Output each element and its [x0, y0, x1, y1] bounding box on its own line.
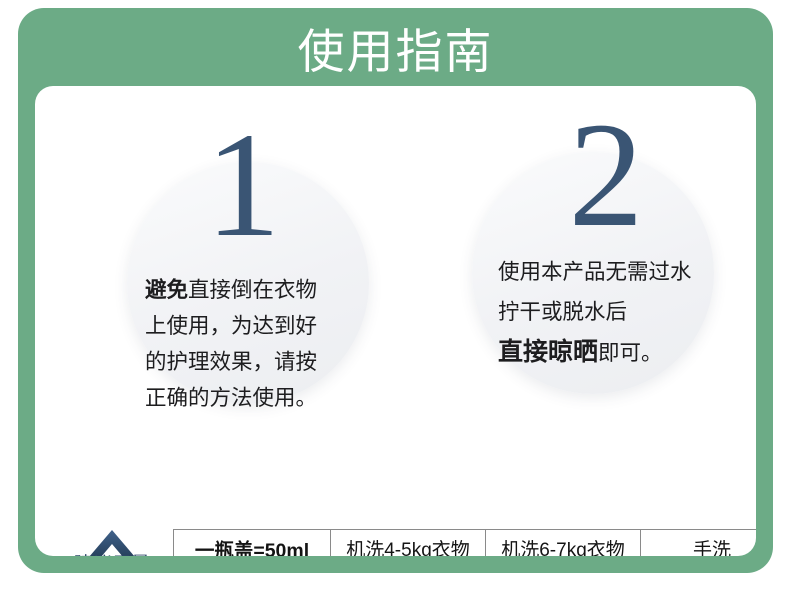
step-1-number: 1: [121, 110, 363, 260]
step-1-line-1: 避免直接倒在衣物: [145, 272, 317, 308]
step-2: 2 使用本产品无需过水 拧干或脱水后 直接晾晒即可。: [472, 152, 714, 394]
dosage-badge-label: 建议用量: [53, 553, 171, 556]
infographic-root: 使用指南 1 避免直接倒在衣物 上使用，为达到好 的护理效果，请按 正确的方法使…: [0, 0, 790, 608]
step-1: 1 避免直接倒在衣物 上使用，为达到好 的护理效果，请按 正确的方法使用。: [127, 162, 369, 404]
step-2-line-3-normal: 即可。: [598, 341, 663, 365]
table-header-cell-3: 手洗: [641, 530, 757, 557]
step-2-line-2: 拧干或脱水后: [498, 292, 692, 332]
table-header-cell-1: 机洗4-5kg衣物: [331, 530, 486, 557]
table-header-cell-0: 一瓶盖=50ml: [174, 530, 331, 557]
step-2-number: 2: [484, 100, 726, 250]
step-2-text: 使用本产品无需过水 拧干或脱水后 直接晾晒即可。: [498, 252, 692, 373]
step-1-line-3: 的护理效果，请按: [145, 344, 317, 380]
step-1-line-4: 正确的方法使用。: [145, 380, 317, 416]
step-1-line-4-normal: 正确的方法使用。: [145, 386, 317, 410]
table-header-cell-2: 机洗6-7kg衣物: [486, 530, 641, 557]
step-1-text: 避免直接倒在衣物 上使用，为达到好 的护理效果，请按 正确的方法使用。: [145, 272, 317, 416]
page-title: 使用指南: [18, 22, 773, 82]
step-1-line-1-bold: 避免: [145, 278, 188, 302]
step-1-line-3-normal: 的护理效果，请按: [145, 350, 317, 374]
step-2-line-1-normal: 使用本产品无需过水: [498, 260, 692, 284]
step-1-line-1-normal: 直接倒在衣物: [188, 278, 317, 302]
white-content-card: 1 避免直接倒在衣物 上使用，为达到好 的护理效果，请按 正确的方法使用。 2 …: [35, 86, 756, 556]
step-2-line-3-bold: 直接晾晒: [498, 338, 598, 366]
step-2-line-1: 使用本产品无需过水: [498, 252, 692, 292]
step-2-line-2-normal: 拧干或脱水后: [498, 300, 627, 324]
dosage-section: 建议用量 一瓶盖=50ml 机洗4-5kg衣物 机洗6-7kg衣物 手洗 建议用…: [35, 467, 756, 556]
dosage-table: 一瓶盖=50ml 机洗4-5kg衣物 机洗6-7kg衣物 手洗 建议用量 20m…: [173, 529, 756, 556]
green-panel: 使用指南 1 避免直接倒在衣物 上使用，为达到好 的护理效果，请按 正确的方法使…: [18, 8, 773, 573]
step-1-line-2-normal: 上使用，为达到好: [145, 314, 317, 338]
triangle-arrows-icon: [53, 527, 171, 556]
table-header-row: 一瓶盖=50ml 机洗4-5kg衣物 机洗6-7kg衣物 手洗: [174, 530, 757, 557]
dosage-badge: 建议用量: [53, 527, 171, 556]
step-2-line-3: 直接晾晒即可。: [498, 332, 692, 373]
step-1-line-2: 上使用，为达到好: [145, 308, 317, 344]
